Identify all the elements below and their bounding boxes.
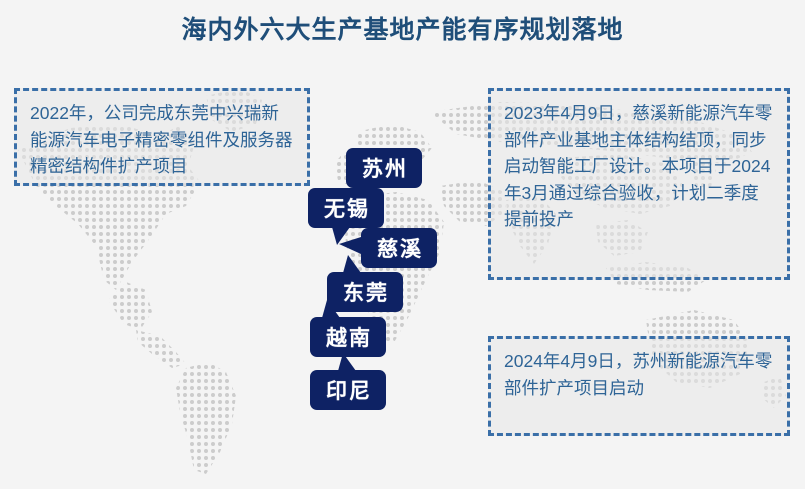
callout-label: 越南 [326, 322, 372, 352]
callout-suzhou[interactable]: 苏州 [346, 148, 422, 188]
info-box-text: 2024年4月9日，苏州新能源汽车零部件扩产项目启动 [504, 348, 775, 401]
callout-tail-icon [343, 255, 361, 273]
info-box-dongguan-project: 2022年，公司完成东莞中兴瑞新能源汽车电子精密零组件及服务器精密结构件扩产项目 [14, 88, 310, 186]
callout-cixi[interactable]: 慈溪 [361, 228, 437, 268]
callout-label: 印尼 [326, 375, 372, 405]
callout-tail-icon [338, 353, 356, 371]
info-box-text: 2023年4月9日，慈溪新能源汽车零部件产业基地主体结构结顶，同步启动智能工厂设… [504, 100, 775, 233]
callout-vietnam[interactable]: 越南 [310, 317, 386, 357]
info-box-text: 2022年，公司完成东莞中兴瑞新能源汽车电子精密零组件及服务器精密结构件扩产项目 [30, 100, 295, 180]
callout-tail-icon [322, 300, 340, 318]
info-box-suzhou-project: 2024年4月9日，苏州新能源汽车零部件扩产项目启动 [488, 336, 790, 436]
callout-label: 无锡 [324, 193, 370, 223]
callout-label: 慈溪 [377, 233, 423, 263]
info-box-cixi-project: 2023年4月9日，慈溪新能源汽车零部件产业基地主体结构结顶，同步启动智能工厂设… [488, 88, 790, 280]
slide-canvas: 海内外六大生产基地产能有序规划落地 2022年，公司完成东莞中兴瑞新能源汽车电子… [0, 0, 805, 489]
page-title: 海内外六大生产基地产能有序规划落地 [0, 10, 805, 46]
callout-wuxi[interactable]: 无锡 [308, 188, 384, 228]
callout-label: 东莞 [343, 277, 389, 307]
callout-tail-icon [339, 237, 361, 254]
callout-indonesia[interactable]: 印尼 [310, 370, 386, 410]
callout-label: 苏州 [362, 153, 408, 183]
